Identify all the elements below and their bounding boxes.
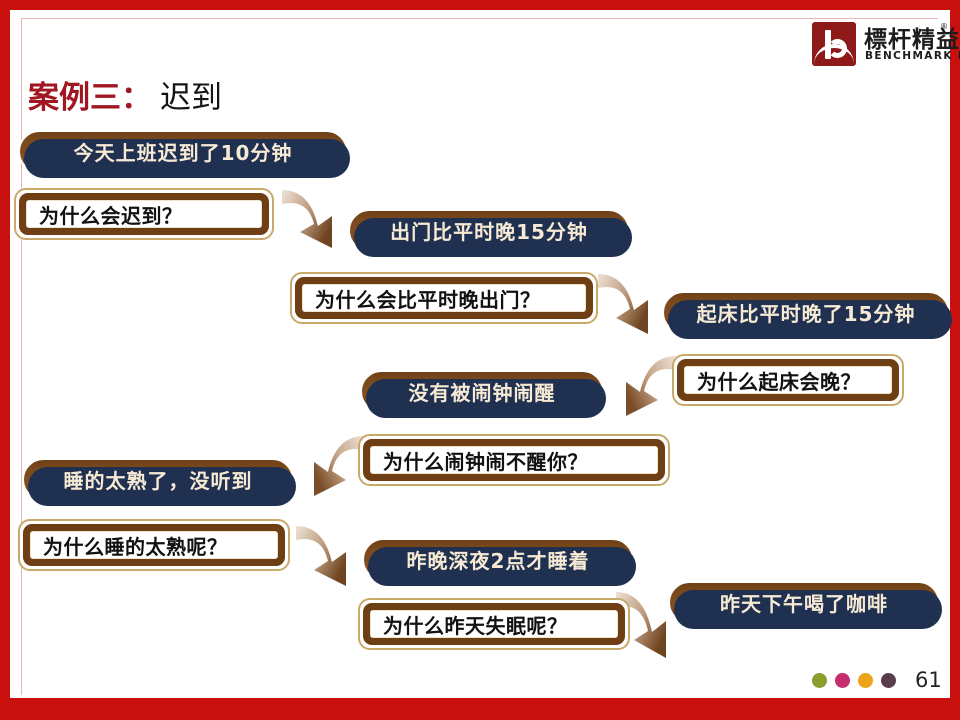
page-title-prefix: 案例三： [28,80,152,116]
statement-pill-s6[interactable]: 昨晚深夜2点才睡着 [362,538,634,581]
page-number: 61 [915,668,942,692]
question-label-q1: 为什么会迟到？ [26,200,262,228]
registered-mark-icon: ® [940,22,948,31]
statement-pill-s1[interactable]: 今天上班迟到了10分钟 [18,130,348,173]
question-label-q6: 为什么昨天失眠呢？ [370,610,618,638]
statement-pill-s2[interactable]: 出门比平时晚15分钟 [348,209,630,252]
question-box-q2[interactable]: 为什么会比平时晚出门？ [290,272,598,324]
page-title: 案例三：迟到 [28,72,222,117]
statement-pill-s7[interactable]: 昨天下午喝了咖啡 [668,581,940,624]
arrow-q1-to-s2 [278,186,358,254]
question-label-q4: 为什么闹钟闹不醒你？ [370,446,658,474]
page-title-subject: 迟到 [160,80,222,116]
question-box-q1[interactable]: 为什么会迟到？ [14,188,274,240]
question-label-q2: 为什么会比平时晚出门？ [302,284,586,312]
statement-pill-s3[interactable]: 起床比平时晚了15分钟 [662,291,950,334]
slide-canvas: 標杆精益 ® BENCHMARK LEAN 案例三：迟到 [0,0,960,720]
logo-english-name: BENCHMARK LEAN [865,50,960,62]
page-dot-4 [881,673,896,688]
frame-hairline-top [21,18,938,19]
frame-border-top [0,0,960,10]
question-box-q5[interactable]: 为什么睡的太熟呢？ [18,519,290,571]
arrow-q4-to-s5 [286,432,368,504]
question-label-q5: 为什么睡的太熟呢？ [30,531,278,559]
question-box-q4[interactable]: 为什么闹钟闹不醒你？ [358,434,670,486]
brand-logo: 標杆精益 ® BENCHMARK LEAN [812,22,950,70]
question-box-q3[interactable]: 为什么起床会晚？ [672,354,904,406]
page-dots [812,673,904,689]
logo-mark-icon [812,22,856,66]
arrow-q3-to-s4 [598,352,680,424]
question-label-q3: 为什么起床会晚？ [684,366,892,394]
statement-pill-s4[interactable]: 没有被闹钟闹醒 [360,370,604,413]
page-dot-3 [858,673,873,688]
statement-pill-s5[interactable]: 睡的太熟了，没听到 [22,458,294,501]
question-box-q6[interactable]: 为什么昨天失眠呢？ [358,598,630,650]
frame-border-left [0,0,10,720]
frame-hairline-left [21,19,22,695]
frame-border-bottom [0,698,960,720]
page-dot-1 [812,673,827,688]
frame-border-right [950,0,960,720]
page-dot-2 [835,673,850,688]
